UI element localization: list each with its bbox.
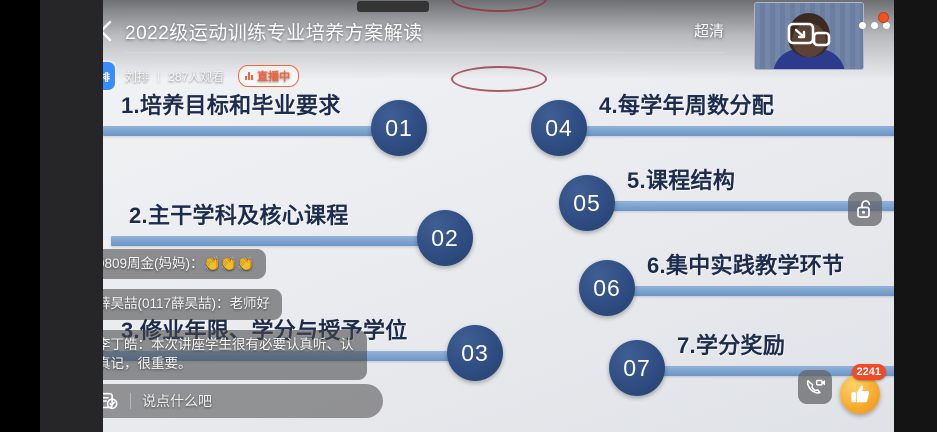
chevron-left-icon [103, 19, 115, 43]
chat-message: 0809周金(妈妈)：👏👏👏 [103, 249, 266, 280]
slide-item-06-label: 6.集中实践教学环节 [647, 248, 844, 280]
chat-input-placeholder[interactable]: 说点什么吧 [142, 391, 212, 411]
slide-item-02-number: 02 [417, 210, 473, 266]
meta-separator: | [157, 69, 160, 83]
unlock-icon [856, 199, 875, 219]
more-options-button[interactable] [859, 22, 890, 29]
avatar[interactable]: 刘排 [103, 62, 115, 90]
back-button[interactable] [103, 14, 122, 48]
input-divider [130, 393, 131, 409]
more-dot-3 [883, 22, 890, 29]
like-count-badge: 2241 [852, 364, 886, 380]
picture-in-picture-icon [787, 22, 831, 50]
slide-item-07-label: 7.学分奖励 [677, 328, 785, 360]
pip-video-window[interactable] [754, 2, 864, 70]
letterbox-left-black [0, 0, 40, 432]
chat-input-bar[interactable]: 说点什么吧 [103, 384, 383, 418]
chat-message: 薛昊喆(0117薛昊喆)：老师好 [103, 289, 282, 320]
slide-item-05-label: 5.课程结构 [627, 163, 735, 195]
streamer-name: 刘排 [125, 68, 149, 85]
more-dot-2 [871, 22, 878, 29]
live-wave-icon [245, 72, 253, 80]
chat-message: 李丁皓：本次讲座学生很有必要认真听、认真记，很重要。 [103, 330, 367, 380]
slide-item-03-number: 03 [447, 325, 503, 381]
slide-item-06-bar [631, 286, 894, 296]
slide-item-06-number: 06 [579, 260, 635, 316]
letterbox-left-dark [40, 0, 103, 432]
like-button[interactable]: 2241 [840, 370, 884, 414]
slide-item-02-label: 2.主干学科及核心课程 [129, 198, 349, 230]
viewer-count: 287人观看 [168, 68, 224, 85]
slide-item-04-bar [583, 126, 894, 136]
page-title: 2022级运动训练专业培养方案解读 [125, 18, 423, 45]
streamer-meta-text: 刘排 | 287人观看 直播中 [125, 65, 299, 87]
video-stage[interactable]: 1.培养目标和毕业要求 01 2.主干学科及核心课程 02 3.修业年限、学分与… [103, 0, 894, 432]
notification-dot [878, 12, 889, 23]
quality-selector[interactable]: 超清 [694, 20, 724, 41]
slide-item-04-label: 4.每学年周数分配 [599, 88, 774, 120]
chat-message-list[interactable]: 0809周金(妈妈)：👏👏👏 薛昊喆(0117薛昊喆)：老师好 李丁皓：本次讲座… [103, 249, 385, 380]
screen-lock-button[interactable] [848, 192, 882, 226]
slide-item-01-label: 1.培养目标和毕业要求 [121, 88, 341, 120]
status-pill [357, 1, 429, 12]
app-screen: 1.培养目标和毕业要求 01 2.主干学科及核心课程 02 3.修业年限、学分与… [0, 0, 937, 432]
slide-item-01-number: 01 [371, 100, 427, 156]
pip-highlight-oval-top [451, 0, 547, 12]
video-call-button[interactable] [798, 370, 832, 404]
letterbox-right [894, 0, 937, 432]
slide-item-07-number: 07 [609, 340, 665, 396]
live-status-badge[interactable]: 直播中 [238, 65, 299, 87]
form-check-icon[interactable] [103, 390, 119, 412]
slide-item-01-bar [103, 126, 403, 136]
like-button-circle [840, 374, 880, 414]
live-badge-label: 直播中 [257, 68, 290, 84]
slide-item-04-number: 04 [531, 100, 587, 156]
slide-item-02-bar [111, 236, 449, 246]
title-divider [125, 52, 725, 53]
slide-item-05-number: 05 [559, 175, 615, 231]
thumbs-up-icon [849, 383, 871, 405]
more-dot-1 [859, 22, 866, 29]
video-call-icon [805, 377, 826, 397]
streamer-info-bar: 刘排 刘排 | 287人观看 直播中 [103, 62, 299, 90]
